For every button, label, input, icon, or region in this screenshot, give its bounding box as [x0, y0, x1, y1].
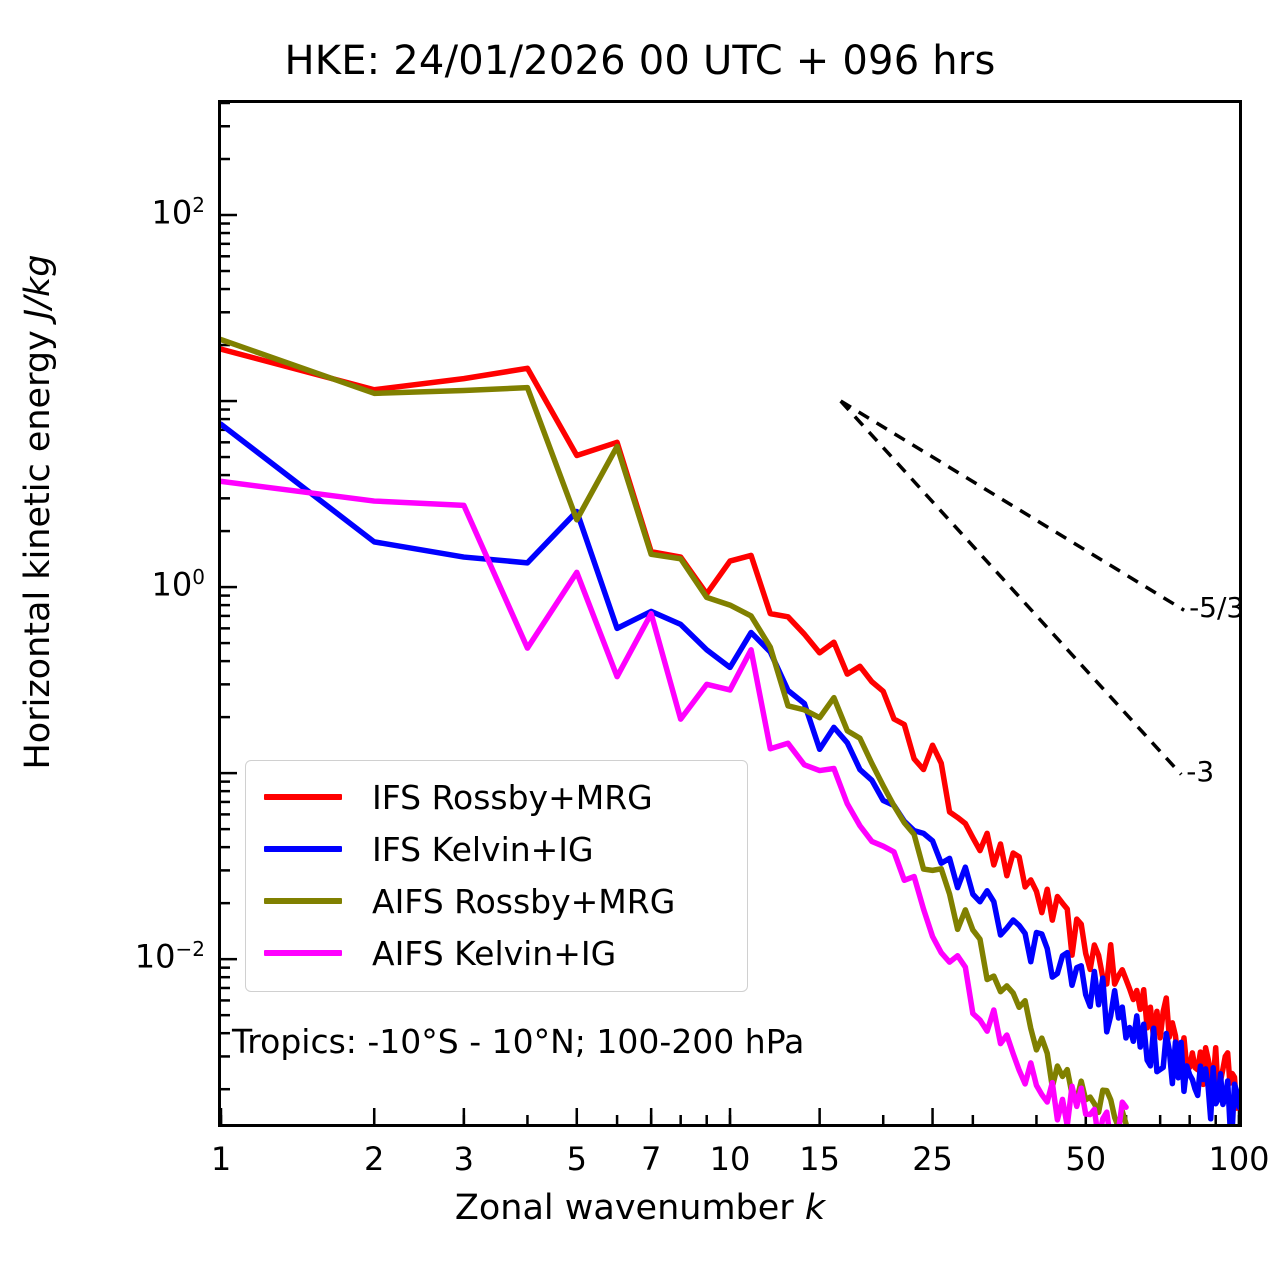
- y-tick-mantissa: 10: [152, 194, 193, 232]
- y-tick-mantissa: 10: [152, 566, 193, 604]
- legend-label: IFS Kelvin+IG: [372, 833, 594, 866]
- x-tick-label: 7: [641, 1140, 661, 1178]
- chart-legend: IFS Rossby+MRGIFS Kelvin+IGAIFS Rossby+M…: [245, 760, 748, 992]
- legend-color-swatch: [264, 898, 342, 904]
- x-tick-label: 1: [211, 1140, 231, 1178]
- slope-label-minus-three: -3: [1186, 755, 1214, 788]
- x-tick-label: 100: [1208, 1140, 1269, 1178]
- x-tick-label: 50: [1065, 1140, 1106, 1178]
- region-annotation: Tropics: -10°S - 10°N; 100-200 hPa: [232, 1022, 804, 1061]
- x-tick-label: 3: [454, 1140, 474, 1178]
- y-tick-label: 102: [0, 193, 205, 232]
- x-axis-label: Zonal wavenumber k: [0, 1188, 1280, 1228]
- y-tick-exponent: 0: [192, 565, 205, 589]
- x-tick-label: 5: [567, 1140, 587, 1178]
- slope-label-five-thirds: -5/3: [1189, 591, 1244, 624]
- legend-color-swatch: [264, 846, 342, 852]
- legend-color-swatch: [264, 794, 342, 800]
- y-tick-label: 100: [0, 565, 205, 604]
- x-tick-label: 10: [710, 1140, 751, 1178]
- x-axis-label-symbol: k: [805, 1188, 825, 1228]
- y-axis-label-unit: J/kg: [18, 254, 58, 319]
- legend-color-swatch: [264, 950, 342, 956]
- x-tick-label: 15: [799, 1140, 840, 1178]
- chart-title: HKE: 24/01/2026 00 UTC + 096 hrs: [0, 38, 1280, 84]
- y-axis-label: Horizontal kinetic energy J/kg: [18, 12, 58, 1012]
- x-axis-label-main: Zonal wavenumber: [455, 1188, 805, 1228]
- legend-label: AIFS Kelvin+IG: [372, 937, 616, 970]
- x-tick-label: 25: [912, 1140, 953, 1178]
- series-line-aifs-rossby-mrg: [221, 340, 1126, 1124]
- reference-slope-line-five-thirds: [841, 401, 1184, 610]
- legend-item[interactable]: IFS Kelvin+IG: [246, 823, 747, 875]
- x-tick-label: 2: [364, 1140, 384, 1178]
- legend-label: AIFS Rossby+MRG: [372, 885, 675, 918]
- y-tick-exponent: −2: [176, 937, 205, 961]
- legend-item[interactable]: IFS Rossby+MRG: [246, 771, 747, 823]
- y-axis-label-main: Horizontal kinetic energy: [18, 319, 58, 769]
- y-tick-mantissa: 10: [135, 938, 176, 976]
- legend-item[interactable]: AIFS Kelvin+IG: [246, 927, 747, 979]
- legend-item[interactable]: AIFS Rossby+MRG: [246, 875, 747, 927]
- y-tick-label: 10−2: [0, 937, 205, 976]
- y-tick-exponent: 2: [192, 193, 205, 217]
- legend-label: IFS Rossby+MRG: [372, 781, 653, 814]
